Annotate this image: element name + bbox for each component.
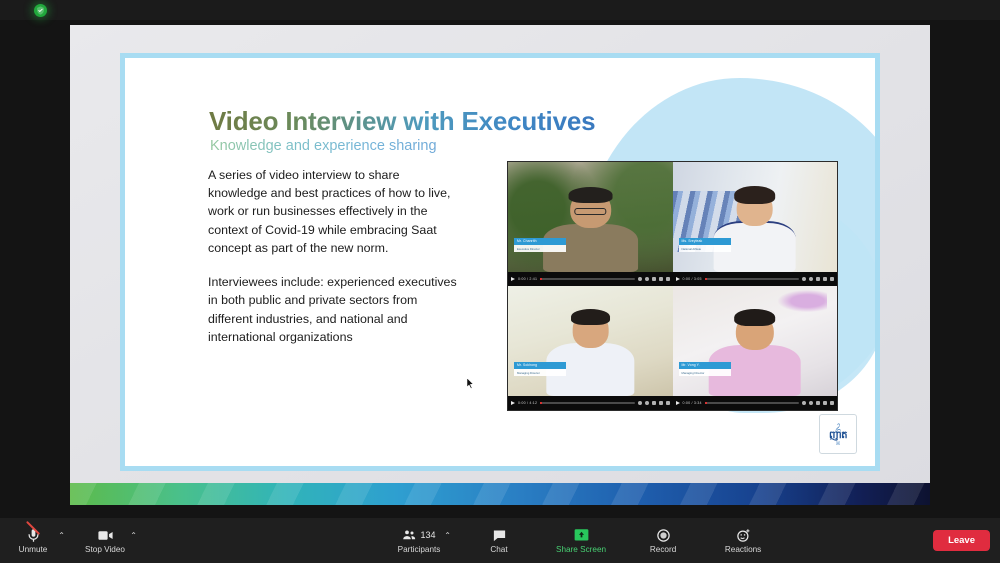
caption-name: Mr. Sokhong [514,362,566,367]
fullscreen-icon[interactable] [666,277,670,281]
captions-icon[interactable] [809,401,813,405]
unmute-label: Unmute [19,545,48,554]
settings-icon[interactable] [802,401,806,405]
caption-role: Managing Director [679,369,731,375]
video-time: 0:00 / 4:12 [518,401,537,405]
presentation-slide: Video Interview with Executives Knowledg… [70,25,930,505]
encryption-indicator[interactable] [0,0,80,20]
video-control-bar[interactable]: 0:00 / 4:12 [508,396,673,410]
captions-icon[interactable] [645,401,649,405]
audio-options-chevron-up-icon[interactable]: ⌃ [58,531,65,540]
unmute-button[interactable]: Unmute ⌃ [10,518,56,563]
miniplayer-icon[interactable] [816,401,820,405]
progress-bar[interactable] [540,278,634,279]
video-extra-controls[interactable] [638,401,670,405]
slide-frame: Video Interview with Executives Knowledg… [120,53,880,471]
mouse-cursor [466,377,475,390]
participants-count: 134 [420,530,435,540]
settings-icon[interactable] [638,401,642,405]
fullscreen-icon[interactable] [666,401,670,405]
video-time: 0:00 / 2:41 [518,277,537,281]
slide-footer-gradient-band [70,483,930,505]
reactions-button[interactable]: Reactions [720,518,766,563]
miniplayer-icon[interactable] [652,401,656,405]
video-subject [673,286,838,396]
theater-icon[interactable] [659,277,663,281]
video-extra-controls[interactable] [802,277,834,281]
video-frame: Mr. Sokhong Managing Director [508,286,673,396]
top-bar [0,0,1000,20]
reactions-label: Reactions [725,545,761,554]
miniplayer-icon[interactable] [652,277,656,281]
settings-icon[interactable] [802,277,806,281]
video-frame: Mr. Chanrith Executive Director [508,162,673,272]
captions-icon[interactable] [645,277,649,281]
lower-third-caption: Mr. Vong Y. Managing Director [679,362,731,376]
play-icon[interactable] [511,401,515,405]
logo-main-glyph: ញាត [829,431,847,441]
video-top-left[interactable]: Mr. Chanrith Executive Director 0:00 / 2… [508,162,673,286]
leave-button[interactable]: Leave [933,530,990,551]
logo-top-glyph: ᬉ [835,422,841,430]
logo-sub-glyph: ℍ [836,442,840,447]
video-extra-controls[interactable] [802,401,834,405]
slide-subtitle: Knowledge and experience sharing [210,138,437,154]
video-bottom-left[interactable]: Mr. Sokhong Managing Director 0:00 / 4:1… [508,286,673,410]
play-icon[interactable] [511,277,515,281]
stop-video-button[interactable]: Stop Video ⌃ [82,518,128,563]
meeting-controls-toolbar: Unmute ⌃ Stop Video ⌃ 134 Participants ⌃ [0,518,1000,563]
participants-chevron-up-icon[interactable]: ⌃ [444,531,451,540]
progress-bar[interactable] [705,402,799,403]
video-subject [673,162,838,272]
share-screen-icon [573,527,590,543]
caption-name: Ms. Sreyleak [679,238,731,243]
chat-label: Chat [490,545,507,554]
video-frame: Mr. Vong Y. Managing Director [673,286,838,396]
miniplayer-icon[interactable] [816,277,820,281]
camera-icon [97,527,114,543]
shield-check-icon [34,4,47,17]
theater-icon[interactable] [659,401,663,405]
video-frame: Ms. Sreyleak National Athlete [673,162,838,272]
paragraph-2: Interviewees include: experienced execut… [208,273,460,346]
caption-name: Mr. Vong Y. [679,362,731,367]
organization-logo: ᬉ ញាត ℍ [819,414,857,454]
video-top-right[interactable]: Ms. Sreyleak National Athlete 0:00 / 3:0… [673,162,838,286]
video-subject [508,162,673,272]
progress-bar[interactable] [705,278,799,279]
video-time: 0:00 / 3:05 [683,277,702,281]
fullscreen-icon[interactable] [830,277,834,281]
video-time: 0:00 / 3:34 [683,401,702,405]
record-label: Record [650,545,676,554]
caption-name: Mr. Chanrith [514,238,566,243]
shared-screen-stage: Video Interview with Executives Knowledg… [0,20,1000,518]
participants-label: Participants [398,545,441,554]
lower-third-caption: Mr. Chanrith Executive Director [514,238,566,252]
video-grid: Mr. Chanrith Executive Director 0:00 / 2… [507,161,838,411]
video-control-bar[interactable]: 0:00 / 3:05 [673,272,838,286]
video-extra-controls[interactable] [638,277,670,281]
play-icon[interactable] [676,401,680,405]
theater-icon[interactable] [823,401,827,405]
paragraph-1: A series of video interview to share kno… [208,166,460,257]
zoom-meeting-window: Search in Presentation You are viewing B… [0,0,1000,563]
caption-role: National Athlete [679,245,731,251]
record-button[interactable]: Record [640,518,686,563]
participants-icon: 134 [402,527,435,543]
chat-bubble-icon [492,527,507,543]
theater-icon[interactable] [823,277,827,281]
mic-muted-icon [26,527,41,543]
stop-video-label: Stop Video [85,545,125,554]
chat-button[interactable]: Chat [476,518,522,563]
lower-third-caption: Mr. Sokhong Managing Director [514,362,566,376]
video-control-bar[interactable]: 0:00 / 3:34 [673,396,838,410]
captions-icon[interactable] [809,277,813,281]
video-options-chevron-up-icon[interactable]: ⌃ [130,531,137,540]
settings-icon[interactable] [638,277,642,281]
slide-body-text: A series of video interview to share kno… [208,166,460,346]
record-icon [656,527,671,543]
video-control-bar[interactable]: 0:00 / 2:41 [508,272,673,286]
fullscreen-icon[interactable] [830,401,834,405]
progress-bar[interactable] [540,402,634,403]
caption-role: Executive Director [514,245,566,251]
caption-role: Managing Director [514,369,566,375]
lower-third-caption: Ms. Sreyleak National Athlete [679,238,731,252]
slide-content: Video Interview with Executives Knowledg… [125,58,875,466]
slide-title: Video Interview with Executives [209,106,595,137]
video-subject [508,286,673,396]
participants-button[interactable]: 134 Participants ⌃ [396,518,442,563]
reactions-icon [736,527,751,543]
share-screen-label: Share Screen [556,545,606,554]
share-screen-button[interactable]: Share Screen [556,518,606,563]
play-icon[interactable] [676,277,680,281]
video-bottom-right[interactable]: Mr. Vong Y. Managing Director 0:00 / 3:3… [673,286,838,410]
